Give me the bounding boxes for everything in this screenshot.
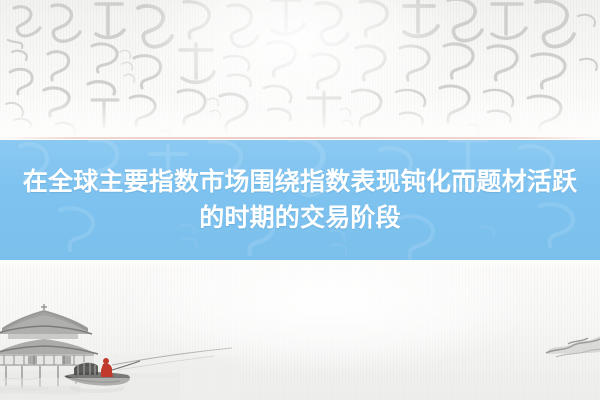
title-text-block: 在全球主要指数市场围绕指数表现钝化而题材活跃 的时期的交易阶段 <box>0 140 600 260</box>
title-line-2: 的时期的交易阶段 <box>199 201 401 235</box>
banner-top-separator <box>0 137 600 139</box>
title-banner: 在全球主要指数市场围绕指数表现钝化而题材活跃 的时期的交易阶段 <box>0 140 600 260</box>
calligraphy-bottom-fade <box>0 96 600 142</box>
ink-wash-illustration <box>0 260 600 400</box>
title-line-1: 在全球主要指数市场围绕指数表现钝化而题材活跃 <box>23 165 577 199</box>
scene-top-fade <box>0 260 600 268</box>
scene-mist-haze <box>0 260 600 400</box>
calligraphy-background <box>0 0 600 142</box>
article-header-card: 在全球主要指数市场围绕指数表现钝化而题材活跃 的时期的交易阶段 <box>0 0 600 400</box>
